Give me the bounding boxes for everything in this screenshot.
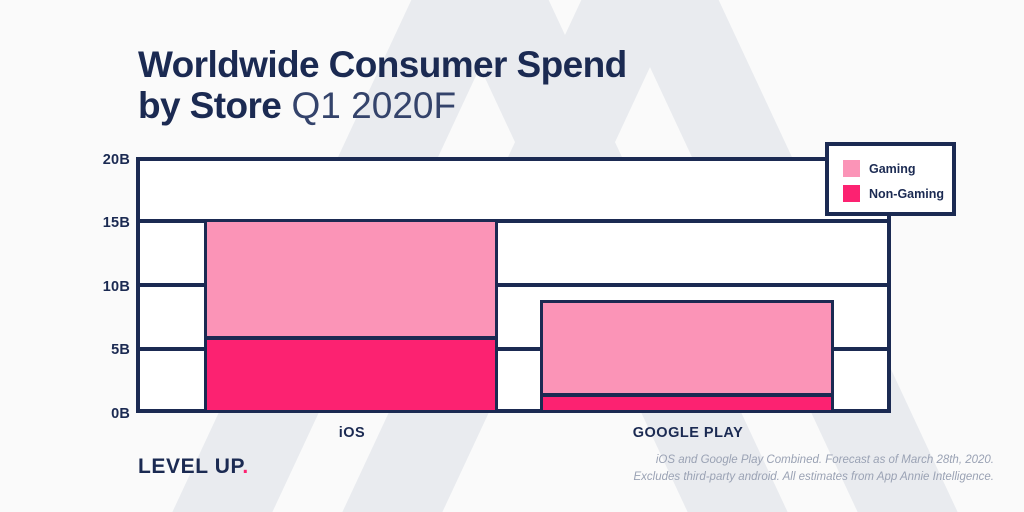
infographic-canvas: Worldwide Consumer Spend by Store Q1 202… — [0, 0, 1024, 512]
title-period: Q1 2020F — [292, 85, 457, 126]
title-subtitle — [281, 85, 291, 126]
bar-google-play-gaming[interactable] — [540, 300, 834, 396]
y-tick-20b: 20B — [76, 152, 130, 168]
chart-legend: Gaming Non-Gaming — [825, 142, 956, 216]
legend-swatch-gaming — [843, 160, 860, 177]
title-line-2: by Store Q1 2020F — [138, 85, 778, 126]
title-main: by Store — [138, 85, 281, 126]
legend-label-non-gaming: Non-Gaming — [869, 187, 944, 201]
chart-plot-area — [136, 157, 891, 413]
bar-ios[interactable] — [204, 219, 498, 413]
legend-item-gaming[interactable]: Gaming — [843, 156, 952, 181]
footnote-line-1: iOS and Google Play Combined. Forecast a… — [474, 452, 994, 469]
title-line-1: Worldwide Consumer Spend — [138, 44, 778, 85]
brand-logo-text: LEVEL UP — [138, 455, 242, 478]
y-tick-0b: 0B — [76, 406, 130, 422]
page-title: Worldwide Consumer Spend by Store Q1 202… — [138, 44, 778, 126]
bar-google-play-non-gaming[interactable] — [540, 394, 834, 413]
legend-swatch-non-gaming — [843, 185, 860, 202]
y-tick-10b: 10B — [76, 279, 130, 295]
footnote: iOS and Google Play Combined. Forecast a… — [474, 452, 994, 486]
bar-ios-non-gaming[interactable] — [204, 337, 498, 413]
x-label-google-play: GOOGLE PLAY — [540, 425, 836, 441]
y-tick-15b: 15B — [76, 215, 130, 231]
brand-logo-dot: . — [242, 455, 248, 478]
footnote-line-2: Excludes third-party android. All estima… — [474, 469, 994, 486]
bar-ios-gaming[interactable] — [204, 219, 498, 339]
bar-google-play[interactable] — [540, 300, 834, 413]
y-tick-5b: 5B — [76, 342, 130, 358]
legend-label-gaming: Gaming — [869, 162, 916, 176]
brand-logo: LEVEL UP. — [138, 455, 249, 479]
x-label-ios: iOS — [204, 425, 500, 441]
legend-item-non-gaming[interactable]: Non-Gaming — [843, 181, 952, 206]
